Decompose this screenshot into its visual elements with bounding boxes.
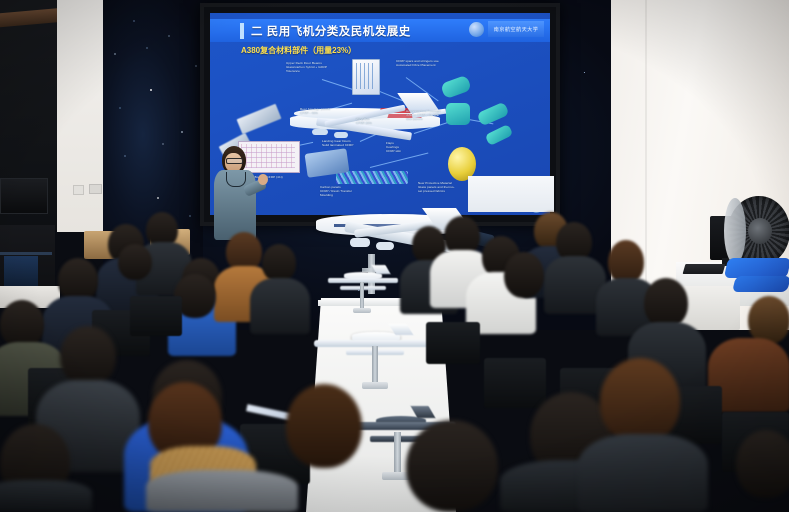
audience-head-foreground	[60, 326, 116, 386]
left-pillar	[57, 0, 105, 232]
chip-detail-lines	[356, 63, 374, 89]
slide-organization: 南京航空航天大学	[488, 21, 544, 37]
audience-head-foreground	[600, 358, 680, 444]
engine-support-stand-lower	[732, 276, 789, 292]
engine-support-stand	[724, 258, 789, 278]
engine-desk-front	[680, 286, 740, 330]
university-seal-icon	[469, 22, 484, 37]
cabinet-panel-blue	[4, 256, 38, 288]
audience-head	[748, 296, 789, 344]
audience-head-foreground	[736, 430, 789, 498]
audience-head	[0, 300, 44, 348]
audience-head-foreground	[286, 384, 362, 468]
tanker-aircraft-model	[312, 318, 438, 394]
transport-aircraft-model	[322, 264, 402, 314]
lecture-hall-photo: 二 民用飞机分类及民机发展史 南京航空航天大学 A380复合材料部件（用量23%…	[0, 0, 789, 512]
audience-head-foreground	[406, 420, 498, 512]
presenter-lanyard	[226, 172, 246, 187]
right-wall-seam	[645, 0, 647, 300]
audience-head	[644, 278, 688, 328]
audience-body-foreground	[578, 434, 708, 512]
audience-body	[250, 278, 310, 334]
audience-body-foreground	[146, 470, 298, 512]
cabinet-shelf	[0, 252, 52, 255]
slide-title: 二 民用飞机分类及民机发展史	[251, 23, 411, 39]
presenter-hand	[258, 174, 268, 185]
title-accent-bar	[240, 23, 244, 39]
carbon-panel-strip	[336, 171, 408, 184]
chair-back	[426, 322, 480, 364]
audience-head	[262, 244, 296, 282]
wall-switch-plate-1[interactable]	[73, 185, 84, 195]
engine-station-keyboard[interactable]	[683, 264, 726, 274]
audience-head	[504, 252, 544, 298]
engine-hub	[748, 218, 772, 244]
chair-back	[484, 358, 546, 408]
a380-illustration	[276, 89, 466, 165]
wall-switch-plate-2[interactable]	[89, 184, 102, 194]
presenter-glasses	[226, 158, 243, 164]
chair-back	[130, 296, 182, 336]
audience-body-foreground	[0, 480, 92, 512]
engine-nacelle-ring	[724, 198, 746, 264]
wall-mounted-tv[interactable]	[0, 178, 48, 214]
audience-head	[118, 244, 152, 280]
